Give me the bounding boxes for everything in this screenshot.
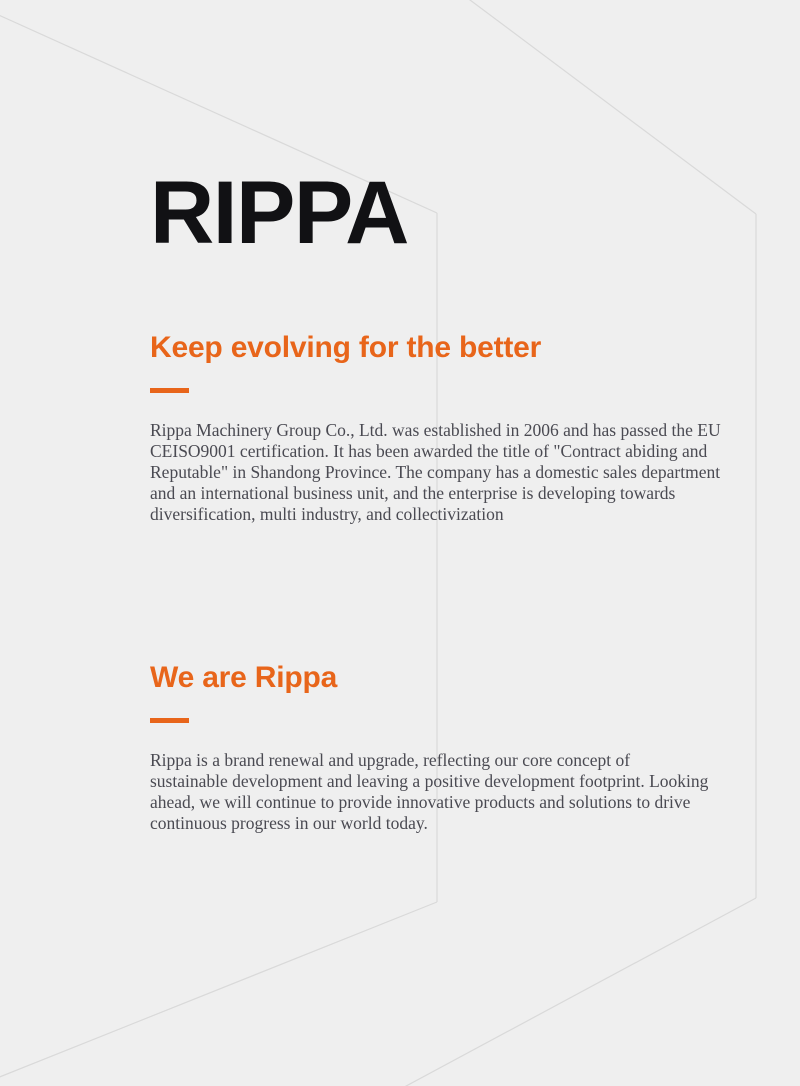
section-heading-we-are-rippa: We are Rippa xyxy=(150,660,750,696)
heading-rule xyxy=(150,388,189,393)
section-body-keep-evolving: Rippa Machinery Group Co., Ltd. was esta… xyxy=(150,420,738,525)
heading-rule xyxy=(150,718,189,723)
section-keep-evolving: Keep evolving for the better Rippa Machi… xyxy=(150,330,750,525)
section-body-we-are-rippa: Rippa is a brand renewal and upgrade, re… xyxy=(150,750,710,834)
brand-logo: RIPPA xyxy=(150,168,408,257)
section-heading-keep-evolving: Keep evolving for the better xyxy=(150,330,750,366)
hexagon-right-bottom-diagonal xyxy=(395,898,756,1086)
about-page: RIPPA Keep evolving for the better Rippa… xyxy=(0,0,800,1086)
hexagon-right-top-diagonal xyxy=(462,0,756,214)
hexagon-left-bottom-diagonal xyxy=(0,902,437,1080)
section-we-are-rippa: We are Rippa Rippa is a brand renewal an… xyxy=(150,660,750,834)
